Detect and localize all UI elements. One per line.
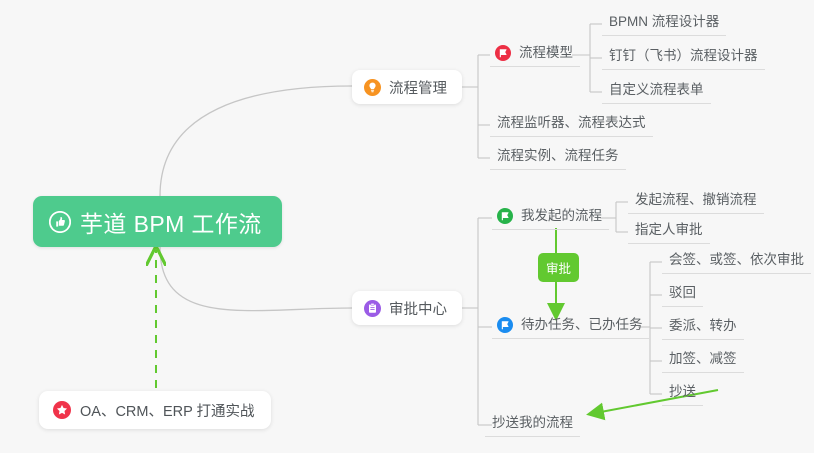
node-process-model-label: 流程模型 [519, 44, 573, 61]
node-todo-done-tasks[interactable]: 待办任务、已办任务 [492, 316, 650, 339]
node-start-cancel-process[interactable]: 发起流程、撤销流程 [628, 191, 764, 214]
note-card-label: OA、CRM、ERP 打通实战 [80, 400, 255, 421]
node-custom-process-form[interactable]: 自定义流程表单 [602, 81, 711, 104]
node-delegate-transfer[interactable]: 委派、转办 [662, 317, 744, 340]
node-my-started-processes[interactable]: 我发起的流程 [492, 207, 609, 230]
flag-icon [497, 317, 513, 333]
node-countersign[interactable]: 会签、或签、依次审批 [662, 251, 811, 274]
node-process-listener[interactable]: 流程监听器、流程表达式 [490, 114, 653, 137]
star-icon [53, 401, 71, 419]
node-reject[interactable]: 驳回 [662, 284, 703, 307]
root-node[interactable]: 芋道 BPM 工作流 [33, 196, 282, 247]
branch-approval-center-label: 审批中心 [389, 298, 447, 319]
lightbulb-icon [364, 79, 381, 96]
thumbs-up-icon [49, 211, 71, 233]
root-label: 芋道 BPM 工作流 [80, 205, 262, 239]
node-add-remove-sign[interactable]: 加签、减签 [662, 350, 744, 373]
wire-root-to-process [160, 86, 352, 196]
node-todo-done-tasks-label: 待办任务、已办任务 [521, 316, 643, 333]
note-card-integration[interactable]: OA、CRM、ERP 打通实战 [39, 391, 271, 429]
branch-process-management[interactable]: 流程管理 [352, 70, 462, 104]
node-my-started-processes-label: 我发起的流程 [521, 207, 602, 224]
node-cc-to-me[interactable]: 抄送我的流程 [485, 414, 580, 437]
stage-tag-approve: 审批 [538, 253, 579, 282]
node-process-model[interactable]: 流程模型 [490, 44, 580, 67]
node-dingtalk-feishu-designer[interactable]: 钉钉（飞书）流程设计器 [602, 47, 765, 70]
clipboard-icon [364, 300, 381, 317]
branch-process-management-label: 流程管理 [389, 77, 447, 98]
node-cc[interactable]: 抄送 [662, 383, 703, 406]
mindmap-canvas: 芋道 BPM 工作流 流程管理 流程模型 BPMN 流程设计器 钉钉（飞书）流程… [0, 0, 814, 453]
node-process-instance-task[interactable]: 流程实例、流程任务 [490, 147, 626, 170]
wire-root-to-approval [160, 247, 352, 311]
flag-icon [497, 208, 513, 224]
branch-approval-center[interactable]: 审批中心 [352, 291, 462, 325]
node-assigned-approver[interactable]: 指定人审批 [628, 221, 710, 244]
node-bpmn-designer[interactable]: BPMN 流程设计器 [602, 13, 726, 36]
flag-icon [495, 45, 511, 61]
